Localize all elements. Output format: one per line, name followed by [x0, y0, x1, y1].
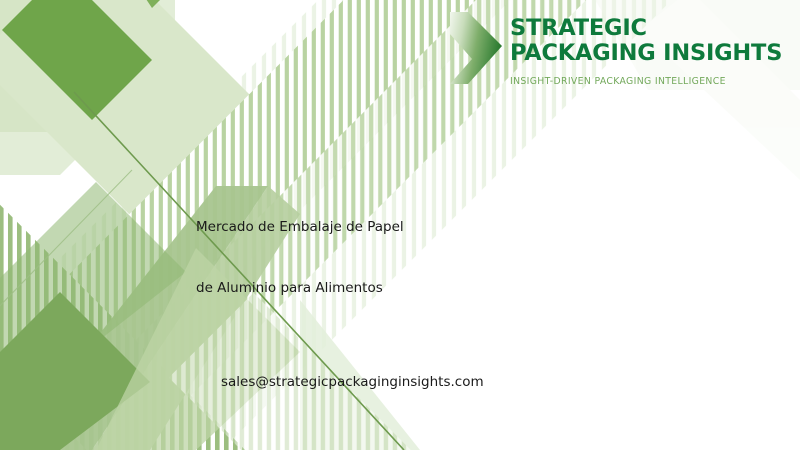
brand-logo-lockup: STRATEGIC PACKAGING INSIGHTS INSIGHT-DRI… [448, 6, 768, 92]
contact-email[interactable]: sales@strategicpackaginginsights.com [221, 374, 484, 390]
brand-name-line-2: PACKAGING INSIGHTS [510, 41, 766, 66]
page-title: Mercado de Embalaje de Papel de Aluminio… [196, 218, 616, 297]
brand-wordmark: STRATEGIC PACKAGING INSIGHTS INSIGHT-DRI… [510, 6, 766, 87]
title-line-2: de Aluminio para Alimentos [196, 279, 616, 297]
title-slide: STRATEGIC PACKAGING INSIGHTS INSIGHT-DRI… [0, 0, 800, 450]
brand-name-line-1: STRATEGIC [510, 16, 766, 41]
chevron-arrow-mark [448, 10, 504, 86]
title-line-1: Mercado de Embalaje de Papel [196, 218, 616, 236]
brand-tagline: INSIGHT-DRIVEN PACKAGING INTELLIGENCE [510, 76, 766, 87]
